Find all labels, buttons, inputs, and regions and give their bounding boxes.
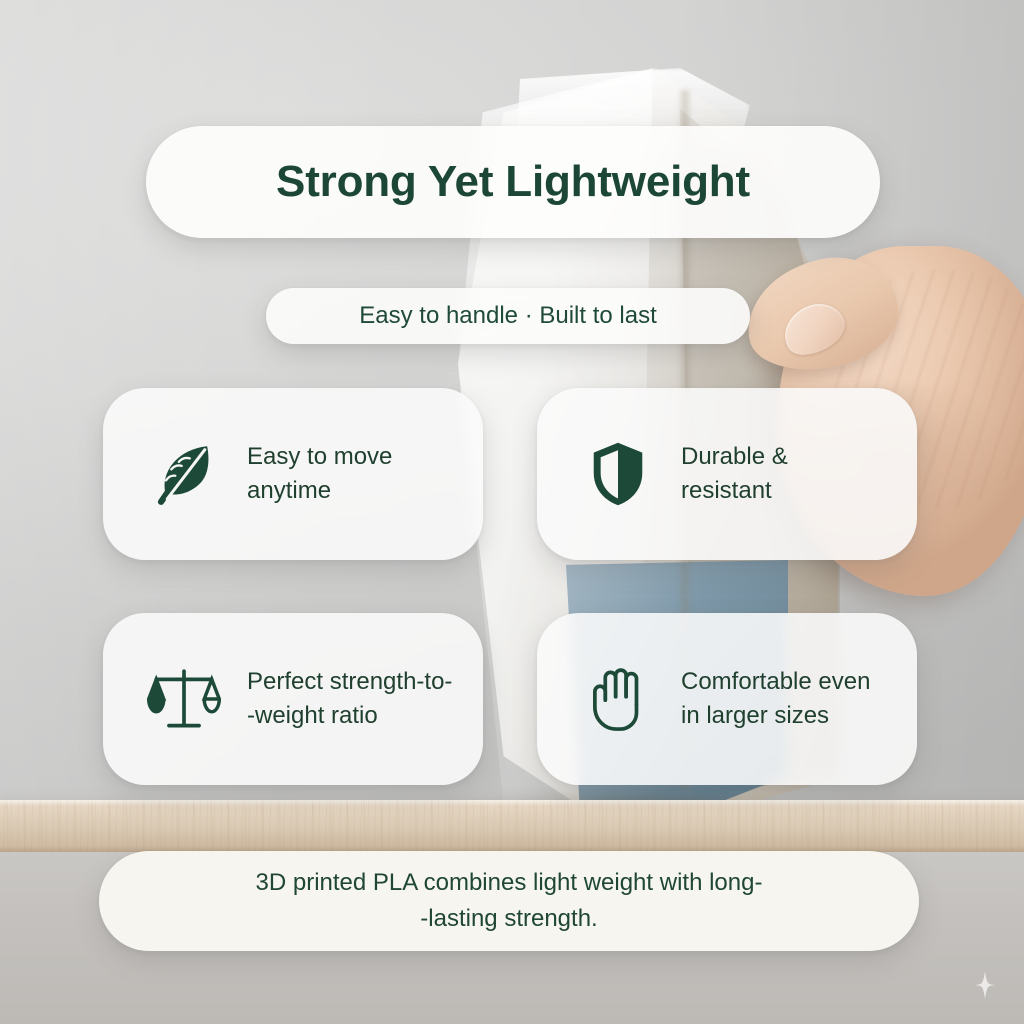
infographic-canvas: Strong Yet Lightweight Easy to handle · … <box>0 0 1024 1024</box>
sparkle-icon <box>970 970 1000 1000</box>
feature-card-label: Durable & resistant <box>681 440 788 508</box>
feature-card-easy-to-move[interactable]: Easy to move anytime <box>103 388 483 560</box>
hand-icon <box>581 662 655 736</box>
feature-card-label: Perfect strength-to- -weight ratio <box>247 665 452 733</box>
feature-card-comfortable[interactable]: Comfortable even in larger sizes <box>537 613 917 785</box>
shelf-top-edge <box>0 800 1024 806</box>
feather-icon <box>147 437 221 511</box>
shield-icon <box>581 437 655 511</box>
feature-card-label: Comfortable even in larger sizes <box>681 665 870 733</box>
subtitle-pill: Easy to handle · Built to last <box>266 288 750 344</box>
feature-card-label: Easy to move anytime <box>247 440 392 508</box>
page-title: Strong Yet Lightweight <box>276 157 750 207</box>
wooden-shelf <box>0 800 1024 856</box>
thumb-nail <box>776 294 852 363</box>
scales-icon <box>147 662 221 736</box>
feature-card-durable[interactable]: Durable & resistant <box>537 388 917 560</box>
footer-caption: 3D printed PLA combines light weight wit… <box>256 865 763 937</box>
feature-card-strength-to-weight[interactable]: Perfect strength-to- -weight ratio <box>103 613 483 785</box>
footer-caption-pill: 3D printed PLA combines light weight wit… <box>99 851 919 951</box>
page-subtitle: Easy to handle · Built to last <box>359 302 657 330</box>
title-pill: Strong Yet Lightweight <box>146 126 880 238</box>
